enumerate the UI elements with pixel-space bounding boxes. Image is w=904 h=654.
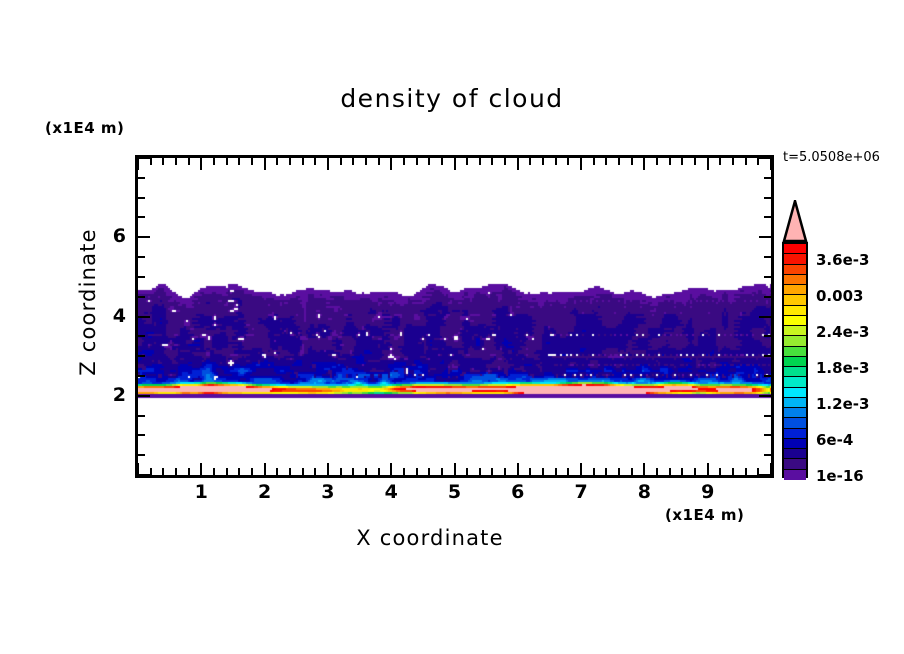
x-tick-label: 5 xyxy=(440,481,470,503)
y-minor-tick xyxy=(138,197,145,199)
y-minor-tick-right xyxy=(764,276,771,278)
x-minor-tick xyxy=(352,468,354,475)
x-minor-tick-top xyxy=(605,158,607,165)
y-minor-tick-right xyxy=(764,197,771,199)
y-minor-tick xyxy=(138,415,145,417)
colorbar-band xyxy=(784,336,806,346)
colorbar-band xyxy=(784,347,806,357)
plot-area[interactable] xyxy=(135,155,774,478)
x-minor-tick xyxy=(479,468,481,475)
x-minor-tick xyxy=(340,468,342,475)
x-minor-tick xyxy=(213,468,215,475)
x-minor-tick-top xyxy=(378,158,380,165)
colorbar-tick-label: 3.6e-3 xyxy=(816,251,869,269)
x-major-tick xyxy=(707,463,709,475)
y-minor-tick-right xyxy=(764,177,771,179)
x-tick-label: 8 xyxy=(629,481,659,503)
plot-figure: density of cloud (x1E4 m) t=5.0508e+06 Z… xyxy=(0,0,904,654)
chart-title: density of cloud xyxy=(0,84,904,113)
x-minor-tick-top xyxy=(188,158,190,165)
colorbar-band xyxy=(784,285,806,295)
y-minor-tick xyxy=(138,216,145,218)
x-minor-tick-top xyxy=(175,158,177,165)
x-minor-tick xyxy=(416,468,418,475)
x-major-tick xyxy=(200,463,202,475)
colorbar-band xyxy=(784,357,806,367)
y-minor-tick-right xyxy=(764,415,771,417)
colorbar-band xyxy=(784,275,806,285)
x-minor-tick xyxy=(378,468,380,475)
y-minor-tick-right xyxy=(764,375,771,377)
x-tick-label: 2 xyxy=(250,481,280,503)
x-minor-tick-top xyxy=(441,158,443,165)
x-minor-tick-top xyxy=(162,158,164,165)
x-minor-tick-top xyxy=(403,158,405,165)
x-minor-tick xyxy=(567,468,569,475)
x-minor-tick-top xyxy=(745,158,747,165)
colorbar-band xyxy=(784,459,806,469)
y-minor-tick-right xyxy=(764,434,771,436)
x-minor-tick-top xyxy=(555,158,557,165)
x-minor-tick xyxy=(631,468,633,475)
colorbar-band xyxy=(784,470,806,480)
x-minor-tick-top xyxy=(491,158,493,165)
x-minor-tick-top xyxy=(479,158,481,165)
x-minor-tick-top xyxy=(681,158,683,165)
x-minor-tick-top xyxy=(542,158,544,165)
x-minor-tick-top xyxy=(504,158,506,165)
colorbar-band xyxy=(784,244,806,254)
colorbar-tick-label: 6e-4 xyxy=(816,431,853,449)
y-minor-tick-right xyxy=(764,355,771,357)
x-tick-label: 7 xyxy=(566,481,596,503)
x-minor-tick-top xyxy=(302,158,304,165)
x-minor-tick-top xyxy=(631,158,633,165)
colorbar-tick-label: 0.003 xyxy=(816,287,863,305)
x-minor-tick-top xyxy=(529,158,531,165)
y-major-tick-right xyxy=(759,395,771,397)
x-major-tick xyxy=(264,463,266,475)
x-minor-tick-top xyxy=(757,158,759,165)
x-minor-tick-top xyxy=(466,158,468,165)
x-major-tick xyxy=(643,463,645,475)
y-minor-tick-right xyxy=(764,296,771,298)
y-minor-tick-right xyxy=(764,335,771,337)
x-minor-tick xyxy=(605,468,607,475)
colorbar-band xyxy=(784,388,806,398)
x-minor-tick-top xyxy=(694,158,696,165)
x-major-tick-top xyxy=(517,158,519,170)
colorbar-band xyxy=(784,367,806,377)
x-minor-tick xyxy=(542,468,544,475)
x-minor-tick xyxy=(694,468,696,475)
y-major-tick-right xyxy=(759,157,771,159)
y-axis-unit-label: (x1E4 m) xyxy=(45,119,124,137)
x-minor-tick xyxy=(289,468,291,475)
x-minor-tick xyxy=(618,468,620,475)
x-major-tick-top xyxy=(137,158,139,170)
x-minor-tick xyxy=(669,468,671,475)
x-minor-tick xyxy=(656,468,658,475)
colorbar-tick-label: 2.4e-3 xyxy=(816,323,869,341)
y-tick-label: 6 xyxy=(100,225,126,247)
x-minor-tick xyxy=(226,468,228,475)
x-major-tick xyxy=(517,463,519,475)
y-major-tick-right xyxy=(759,236,771,238)
x-minor-tick-top xyxy=(276,158,278,165)
x-minor-tick-top xyxy=(593,158,595,165)
x-minor-tick-top xyxy=(352,158,354,165)
x-minor-tick xyxy=(175,468,177,475)
y-minor-tick-right xyxy=(764,216,771,218)
x-minor-tick xyxy=(302,468,304,475)
y-minor-tick xyxy=(138,335,145,337)
y-major-tick xyxy=(138,157,150,159)
x-minor-tick-top xyxy=(416,158,418,165)
x-minor-tick-top xyxy=(226,158,228,165)
x-major-tick-top xyxy=(327,158,329,170)
x-major-tick xyxy=(390,463,392,475)
x-minor-tick-top xyxy=(150,158,152,165)
y-minor-tick xyxy=(138,454,145,456)
x-minor-tick xyxy=(238,468,240,475)
colorbar-band xyxy=(784,418,806,428)
x-axis-title: X coordinate xyxy=(330,526,530,550)
x-minor-tick xyxy=(504,468,506,475)
x-minor-tick-top xyxy=(732,158,734,165)
y-major-tick-right xyxy=(759,474,771,476)
y-major-tick xyxy=(138,236,150,238)
colorbar-overflow-arrow-icon xyxy=(782,200,808,242)
x-major-tick-top xyxy=(643,158,645,170)
x-minor-tick-top xyxy=(251,158,253,165)
x-minor-tick xyxy=(491,468,493,475)
x-major-tick-top xyxy=(770,158,772,170)
y-minor-tick xyxy=(138,375,145,377)
x-minor-tick xyxy=(441,468,443,475)
y-major-tick-right xyxy=(759,316,771,318)
colorbar-band xyxy=(784,449,806,459)
x-minor-tick-top xyxy=(618,158,620,165)
y-axis-title: Z coordinate xyxy=(76,202,100,402)
x-tick-label: 3 xyxy=(313,481,343,503)
x-minor-tick xyxy=(555,468,557,475)
x-major-tick-top xyxy=(390,158,392,170)
colorbar-band xyxy=(784,439,806,449)
colorbar-tick-label: 1.2e-3 xyxy=(816,395,869,413)
x-minor-tick-top xyxy=(238,158,240,165)
x-major-tick-top xyxy=(200,158,202,170)
x-minor-tick-top xyxy=(656,158,658,165)
colorbar-bands xyxy=(782,242,808,478)
x-minor-tick xyxy=(593,468,595,475)
x-minor-tick-top xyxy=(314,158,316,165)
colorbar-band xyxy=(784,377,806,387)
colorbar-band xyxy=(784,265,806,275)
y-minor-tick-right xyxy=(764,454,771,456)
colorbar-band xyxy=(784,316,806,326)
x-major-tick xyxy=(454,463,456,475)
x-minor-tick xyxy=(314,468,316,475)
x-tick-label: 4 xyxy=(376,481,406,503)
x-minor-tick xyxy=(466,468,468,475)
x-major-tick-top xyxy=(454,158,456,170)
x-major-tick xyxy=(327,463,329,475)
colorbar-band xyxy=(784,326,806,336)
x-tick-label: 9 xyxy=(693,481,723,503)
x-minor-tick xyxy=(732,468,734,475)
x-minor-tick xyxy=(403,468,405,475)
y-minor-tick xyxy=(138,434,145,436)
x-minor-tick-top xyxy=(340,158,342,165)
x-minor-tick-top xyxy=(719,158,721,165)
x-minor-tick xyxy=(681,468,683,475)
y-major-tick xyxy=(138,474,150,476)
colorbar-band xyxy=(784,429,806,439)
x-major-tick-top xyxy=(264,158,266,170)
x-minor-tick xyxy=(276,468,278,475)
x-axis-unit-label: (x1E4 m) xyxy=(665,506,744,524)
x-minor-tick xyxy=(251,468,253,475)
x-major-tick-top xyxy=(580,158,582,170)
x-minor-tick xyxy=(719,468,721,475)
y-minor-tick xyxy=(138,256,145,258)
colorbar-band xyxy=(784,295,806,305)
x-minor-tick xyxy=(428,468,430,475)
x-minor-tick-top xyxy=(669,158,671,165)
y-tick-label: 2 xyxy=(100,384,126,406)
colorbar-band xyxy=(784,254,806,264)
y-minor-tick xyxy=(138,296,145,298)
x-tick-label: 1 xyxy=(186,481,216,503)
x-minor-tick xyxy=(188,468,190,475)
colorbar-tick-label: 1e-16 xyxy=(816,467,864,485)
x-minor-tick-top xyxy=(567,158,569,165)
colorbar-band xyxy=(784,408,806,418)
y-major-tick xyxy=(138,316,150,318)
colorbar-band xyxy=(784,398,806,408)
x-minor-tick-top xyxy=(428,158,430,165)
timestamp-annotation: t=5.0508e+06 xyxy=(783,150,880,165)
y-minor-tick xyxy=(138,276,145,278)
x-major-tick xyxy=(580,463,582,475)
x-minor-tick-top xyxy=(365,158,367,165)
contour-field xyxy=(138,158,771,475)
x-minor-tick-top xyxy=(213,158,215,165)
x-major-tick-top xyxy=(707,158,709,170)
x-tick-label: 6 xyxy=(503,481,533,503)
x-minor-tick xyxy=(162,468,164,475)
x-minor-tick xyxy=(365,468,367,475)
colorbar-tick-label: 1.8e-3 xyxy=(816,359,869,377)
y-minor-tick xyxy=(138,177,145,179)
y-minor-tick xyxy=(138,355,145,357)
y-tick-label: 4 xyxy=(100,305,126,327)
x-minor-tick xyxy=(745,468,747,475)
y-minor-tick-right xyxy=(764,256,771,258)
y-major-tick xyxy=(138,395,150,397)
x-minor-tick-top xyxy=(289,158,291,165)
x-minor-tick xyxy=(529,468,531,475)
colorbar-band xyxy=(784,306,806,316)
